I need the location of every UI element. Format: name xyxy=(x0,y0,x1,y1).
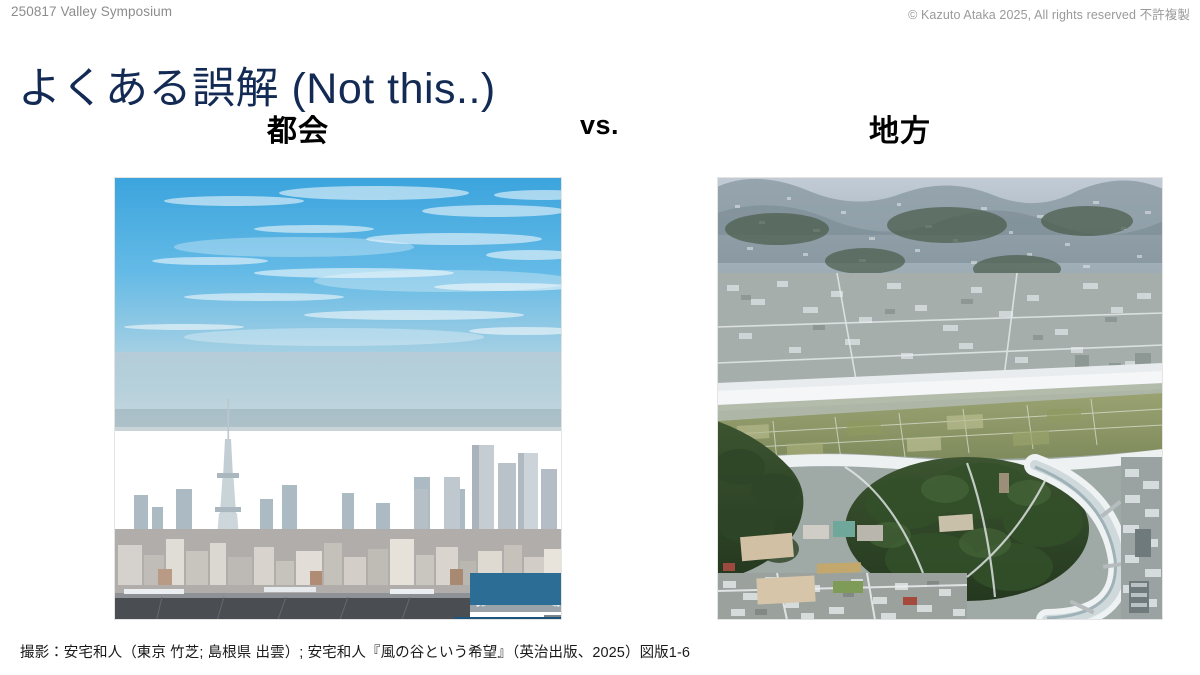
photo-urban-tokyo: 東京 竹芝 都心の高層ビル群と東京湾の空撮 xyxy=(114,177,562,620)
label-urban: 都会 xyxy=(74,106,522,150)
copyright-notice: © Kazuto Ataka 2025, All rights reserved… xyxy=(908,4,1190,23)
label-rural: 地方 xyxy=(677,106,1123,150)
photo-urban-canvas xyxy=(114,177,562,620)
deck-tag: 250817 Valley Symposium xyxy=(11,4,172,19)
photo-rural-canvas xyxy=(717,177,1163,620)
label-versus: vs. xyxy=(522,110,677,141)
photo-rural-izumo: 島根県 出雲 地方都市と田園の空撮 xyxy=(717,177,1163,620)
slide-header: 250817 Valley Symposium © Kazuto Ataka 2… xyxy=(0,0,1200,26)
source-caption: 撮影：安宅和人（東京 竹芝; 島根県 出雲）; 安宅和人『風の谷という希望』（英… xyxy=(20,641,690,662)
